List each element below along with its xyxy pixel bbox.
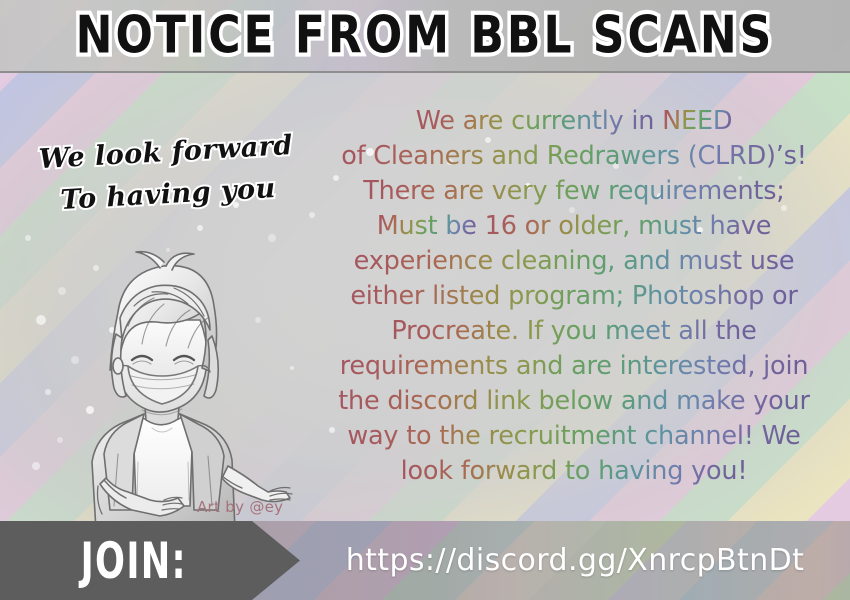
body-text-segment: We are currently in	[416, 106, 662, 136]
page-title: NOTICE FROM BBL SCANS	[0, 0, 850, 77]
notice-body-line: of Cleaners and Redrawers (CLRD)’s!	[300, 139, 848, 174]
notice-body-line: the discord link below and make your	[300, 384, 848, 419]
emphasis-underlined-text: NEED	[662, 106, 732, 136]
body-text-segment: the discord link below and make your	[338, 386, 810, 416]
poster-canvas: NOTICE FROM BBL SCANS We look forward To…	[0, 0, 850, 600]
art-credit: Art by @ey	[197, 498, 283, 516]
notice-body-line: look forward to having you!	[300, 454, 848, 489]
notice-body-line: We are currently in NEED	[300, 104, 848, 139]
notice-body-line: Procreate. If you meet all the	[300, 314, 848, 349]
body-text-segment: There are very few requirements;	[363, 176, 784, 206]
notice-body-line: There are very few requirements;	[300, 174, 848, 209]
body-text-segment: of Cleaners and Redrawers (CLRD)’s!	[341, 141, 807, 171]
notice-body-line: either listed program; Photoshop or	[300, 279, 848, 314]
notice-body-text: We are currently in NEEDof Cleaners and …	[300, 104, 848, 489]
join-tag: JOIN:	[0, 521, 300, 600]
notice-body-line: experience cleaning, and must use	[300, 244, 848, 279]
body-text-segment: requirements and are interested, join	[340, 351, 809, 381]
body-text-segment: way to the recruitment channel! We	[347, 421, 800, 451]
notice-body-line: requirements and are interested, join	[300, 349, 848, 384]
notice-body-line: way to the recruitment channel! We	[300, 419, 848, 454]
footer-band: JOIN: https://discord.gg/XnrcpBtnDt	[0, 521, 850, 600]
discord-invite-link[interactable]: https://discord.gg/XnrcpBtnDt	[300, 521, 850, 600]
body-text-segment: Procreate. If you meet all the	[391, 316, 756, 346]
body-text-segment: either listed program; Photoshop or	[350, 281, 797, 311]
body-text-segment: experience cleaning, and must use	[354, 246, 795, 276]
body-text-segment: look forward to having you!	[401, 456, 748, 486]
emphasis-underlined-text: Must be	[377, 211, 477, 241]
notice-body-line: Must be 16 or older, must have	[300, 209, 848, 244]
body-text-segment: 16 or older, must have	[477, 211, 771, 241]
join-label: JOIN:	[81, 531, 187, 590]
